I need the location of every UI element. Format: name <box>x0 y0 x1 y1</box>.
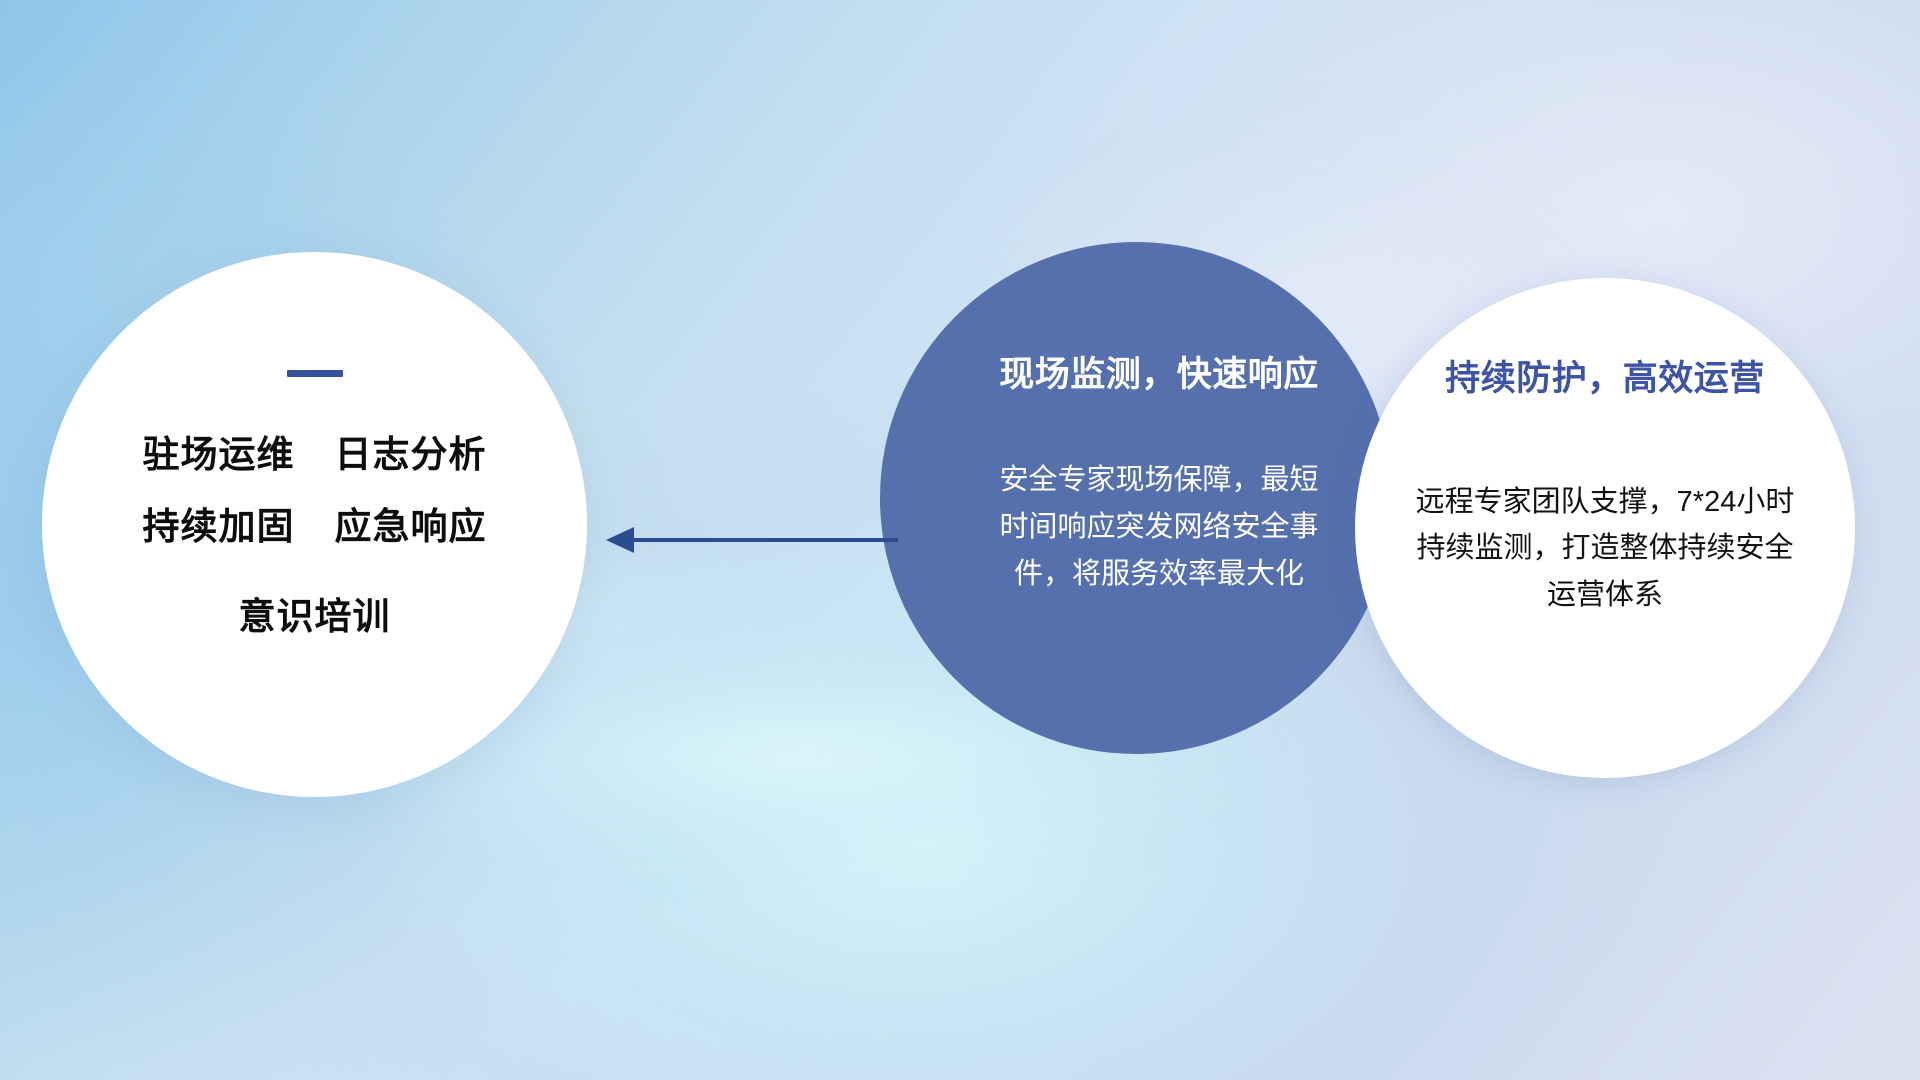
slide-canvas: 驻场运维 日志分析 持续加固 应急响应 意识培训 现场监测，快速响应 安全专家现… <box>0 0 1920 1080</box>
keyword-row: 持续加固 应急响应 <box>143 503 487 550</box>
continuous-protection-title: 持续防护，高效运营 <box>1445 350 1765 401</box>
keyword-item: 应急响应 <box>335 503 487 550</box>
keyword-row: 驻场运维 日志分析 <box>143 431 487 478</box>
divider-dash <box>287 370 343 377</box>
keyword-row: 意识培训 <box>239 593 391 640</box>
keyword-item: 日志分析 <box>335 431 487 478</box>
onsite-monitoring-content: 现场监测，快速响应 安全专家现场保障，最短时间响应突发网络安全事件，将服务效率最… <box>880 242 1392 754</box>
keyword-item: 意识培训 <box>239 593 391 640</box>
onsite-monitoring-title: 现场监测，快速响应 <box>953 346 1319 397</box>
onsite-monitoring-body: 安全专家现场保障，最短时间响应突发网络安全事件，将服务效率最大化 <box>948 457 1324 598</box>
keyword-item: 持续加固 <box>143 503 295 550</box>
keyword-item: 驻场运维 <box>143 431 295 478</box>
continuous-protection-content: 持续防护，高效运营 远程专家团队支撑，7*24小时持续监测，打造整体持续安全运营… <box>1355 278 1855 778</box>
onsite-operations-content: 驻场运维 日志分析 持续加固 应急响应 意识培训 <box>42 252 587 797</box>
leftward-flow-arrow <box>600 520 900 560</box>
continuous-protection-body: 远程专家团队支撑，7*24小时持续监测，打造整体持续安全运营体系 <box>1405 479 1805 618</box>
